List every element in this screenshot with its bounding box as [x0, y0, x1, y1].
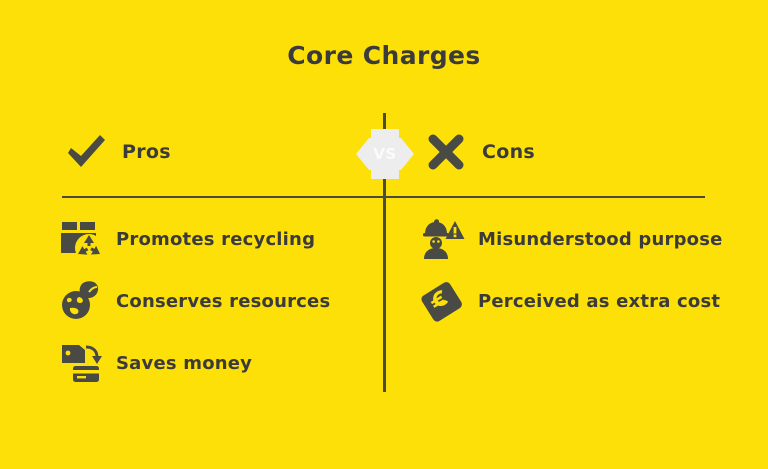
list-item-label: Perceived as extra cost	[478, 291, 720, 312]
list-item-label: Conserves resources	[116, 291, 330, 312]
wallet-card-arrow-icon	[58, 340, 104, 386]
cons-label: Cons	[482, 141, 535, 163]
cons-column-header: Cons	[424, 130, 535, 174]
page-title: Core Charges	[0, 41, 768, 70]
list-item: Perceived as extra cost	[420, 278, 720, 324]
price-tag-currency-icon	[420, 278, 466, 324]
list-item: Promotes recycling	[58, 216, 315, 262]
pros-label: Pros	[122, 141, 171, 163]
globe-leaf-icon	[58, 278, 104, 324]
check-mark-icon	[64, 130, 108, 174]
list-item: Conserves resources	[58, 278, 330, 324]
worker-warning-icon	[420, 216, 466, 262]
box-recycle-icon	[58, 216, 104, 262]
cross-mark-icon	[424, 130, 468, 174]
list-item: Saves money	[58, 340, 252, 386]
list-item-label: Saves money	[116, 353, 252, 374]
list-item-label: Misunderstood purpose	[478, 229, 723, 250]
pros-column-header: Pros	[64, 130, 171, 174]
vs-label: VS	[356, 129, 414, 179]
comparison-slide: Core Charges VS Pros Cons	[0, 0, 768, 469]
list-item: Misunderstood purpose	[420, 216, 723, 262]
vertical-divider-bottom	[383, 168, 386, 392]
list-item-label: Promotes recycling	[116, 229, 315, 250]
